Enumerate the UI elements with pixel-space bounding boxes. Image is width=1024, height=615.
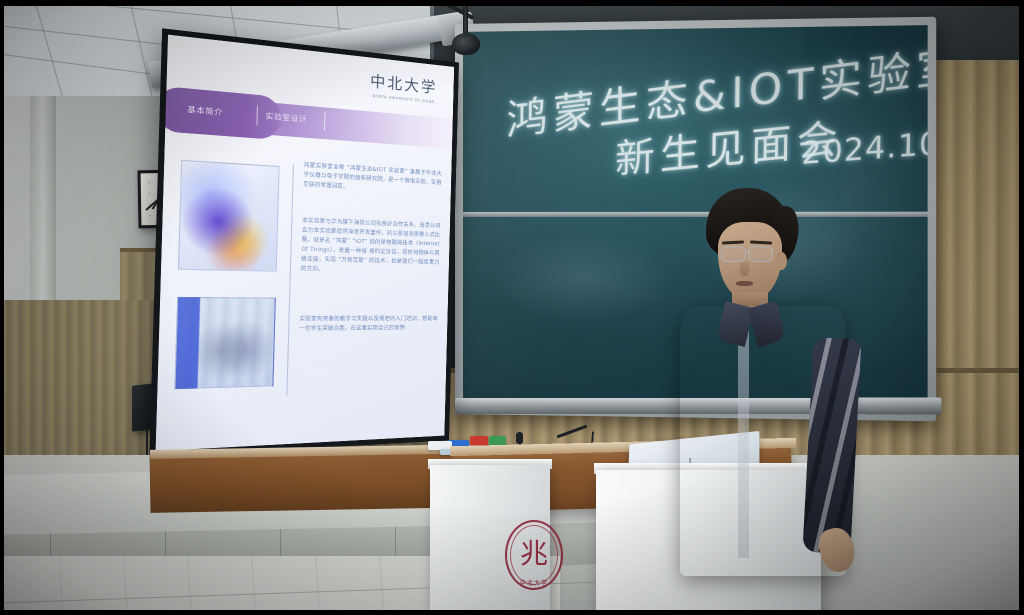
ceiling-projector [452,33,480,55]
university-emblem: 兆 中北大学 [505,520,563,590]
slide-paragraph-3: 实验室有完备的教学习实践以及规范的入门培训，帮助每一位学生突破自我，在这里实现自… [299,315,438,334]
shirt-placket [738,328,749,558]
projection-screen: 中北大学 NORTH UNIVERSITY OF CHINA 基本简介 实验室设… [149,28,459,457]
slide-image-abstract [178,160,280,272]
presenter [672,188,852,608]
presentation-slide: 中北大学 NORTH UNIVERSITY OF CHINA 基本简介 实验室设… [156,35,455,452]
presenter-mouth [736,281,753,286]
screen-surface: 中北大学 NORTH UNIVERSITY OF CHINA 基本简介 实验室设… [156,35,455,452]
lecture-hall-scene: 鸿蒙生态&IOT实验室 新生见面会 2024.10.14 中北大学 NORTH … [0,0,1024,615]
presenter-ear [776,252,787,270]
slide-image-lab-photo [174,297,276,389]
presenter-nose [740,262,749,276]
slide-university-logo: 中北大学 NORTH UNIVERSITY OF CHINA [367,65,441,107]
slide-paragraph-1: 鸿蒙实验室全称 “鸿蒙生态&IOT 实验室” 隶属于中北大学仪器与电子学院的创新… [303,161,442,197]
eyeglasses-bridge [745,252,750,253]
slide-vertical-rule [286,165,294,396]
emblem-caption: 中北大学 [520,578,548,587]
eyeglasses-lens-left [721,246,746,262]
emblem-glyph: 兆 [520,532,548,572]
eyeglasses-lens-right [748,246,773,262]
slide-paragraph-2: 本实验室与华为旗下海思公司有良好合作关系，海思公司会为本实验室提供海思开发套件，… [301,217,441,277]
